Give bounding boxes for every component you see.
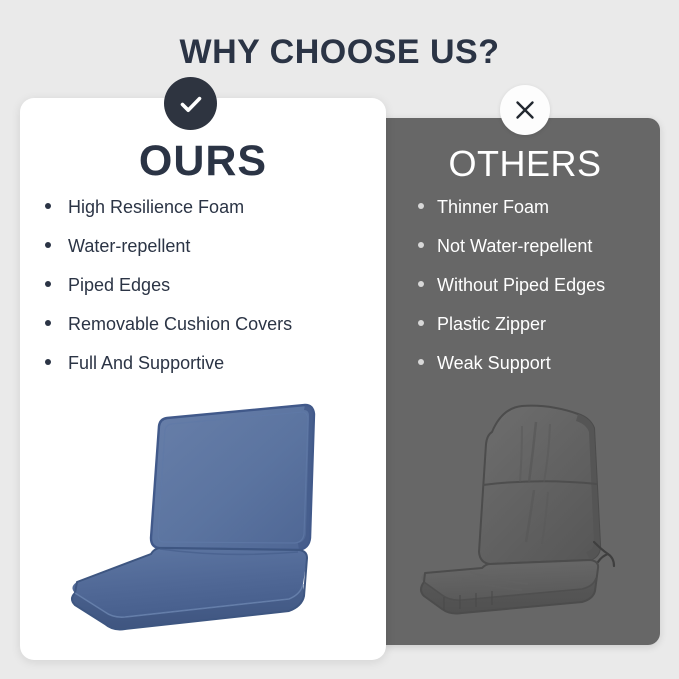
feature-label: Weak Support — [437, 352, 551, 374]
bullet-dot-icon — [418, 242, 424, 248]
list-item: Weak Support — [418, 352, 658, 391]
feature-label: Without Piped Edges — [437, 274, 605, 296]
list-item: High Resilience Foam — [45, 196, 375, 235]
bullet-dot-icon — [418, 359, 424, 365]
list-item: Piped Edges — [45, 274, 375, 313]
bullet-dot-icon — [45, 359, 51, 365]
list-item: Plastic Zipper — [418, 313, 658, 352]
others-heading: OTHERS — [390, 142, 660, 186]
bullet-dot-icon — [418, 281, 424, 287]
feature-label: Water-repellent — [68, 235, 190, 257]
ours-product-image — [55, 388, 355, 636]
ours-heading: OURS — [20, 136, 386, 186]
bullet-dot-icon — [45, 281, 51, 287]
bullet-dot-icon — [45, 203, 51, 209]
list-item: Water-repellent — [45, 235, 375, 274]
feature-label: Plastic Zipper — [437, 313, 546, 335]
feature-label: Full And Supportive — [68, 352, 224, 374]
list-item: Not Water-repellent — [418, 235, 658, 274]
others-feature-list: Thinner Foam Not Water-repellent Without… — [418, 196, 658, 391]
bullet-dot-icon — [418, 320, 424, 326]
infographic-canvas: WHY CHOOSE US? OURS OTHERS High Resilien… — [0, 0, 679, 679]
feature-label: Piped Edges — [68, 274, 170, 296]
check-circle-icon — [164, 77, 217, 130]
list-item: Removable Cushion Covers — [45, 313, 375, 352]
bullet-dot-icon — [418, 203, 424, 209]
bullet-dot-icon — [45, 242, 51, 248]
ours-feature-list: High Resilience Foam Water-repellent Pip… — [45, 196, 375, 391]
feature-label: Not Water-repellent — [437, 235, 592, 257]
bullet-dot-icon — [45, 320, 51, 326]
feature-label: Removable Cushion Covers — [68, 313, 292, 335]
page-title: WHY CHOOSE US? — [0, 30, 679, 74]
feature-label: High Resilience Foam — [68, 196, 244, 218]
list-item: Thinner Foam — [418, 196, 658, 235]
list-item: Without Piped Edges — [418, 274, 658, 313]
list-item: Full And Supportive — [45, 352, 375, 391]
x-circle-icon — [500, 85, 550, 135]
feature-label: Thinner Foam — [437, 196, 549, 218]
others-product-image — [410, 392, 650, 632]
